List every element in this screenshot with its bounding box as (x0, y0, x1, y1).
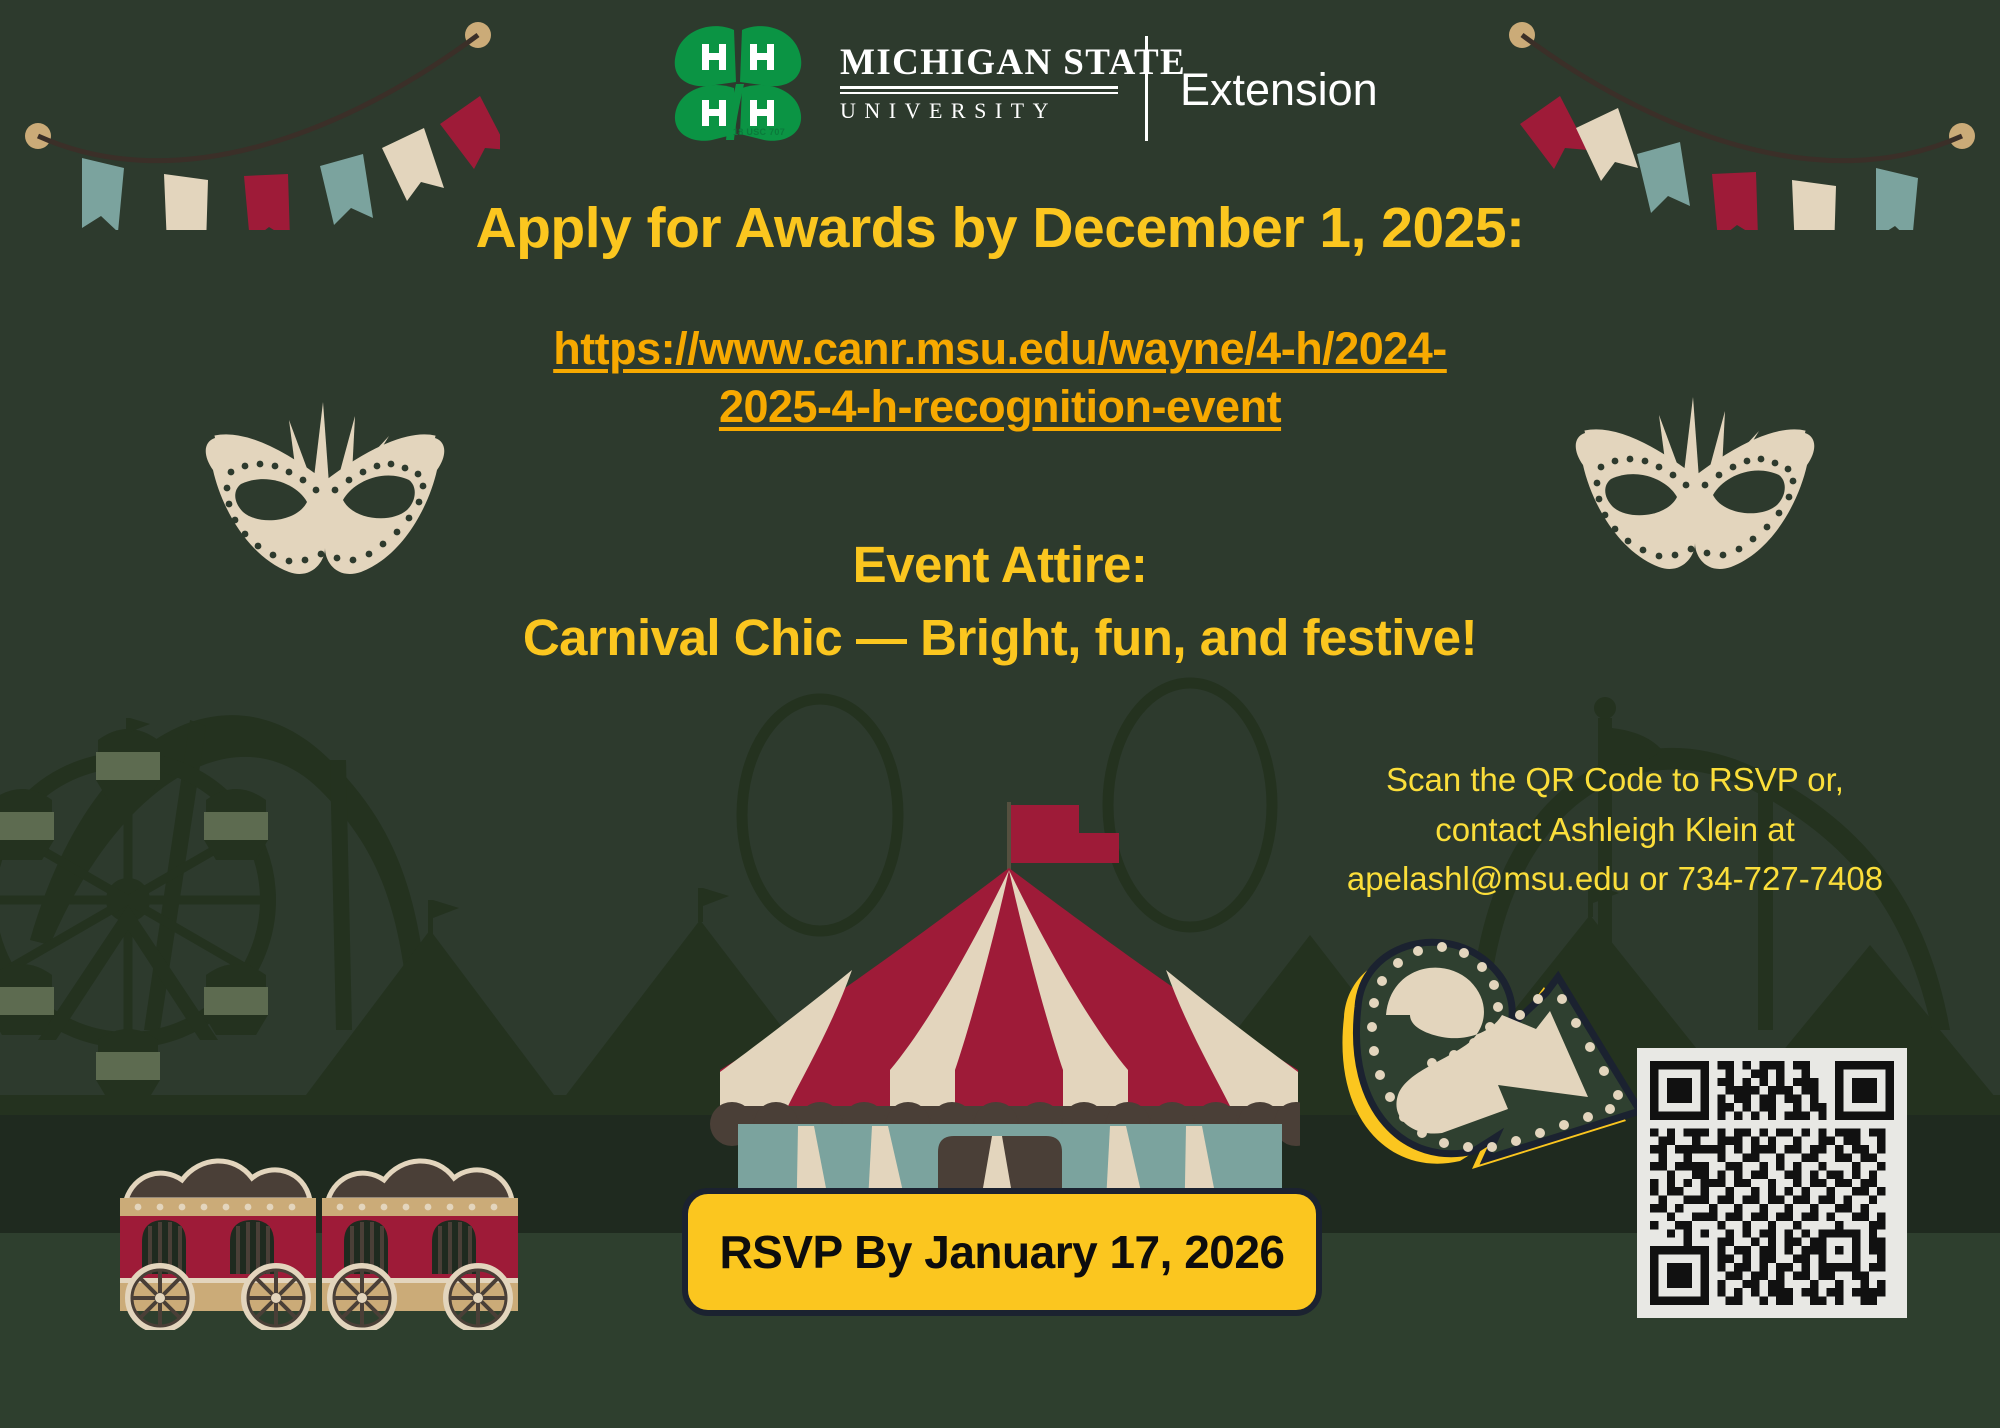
attire-description: Carnival Chic — Bright, fun, and festive… (0, 608, 2000, 667)
tent-flag-icon (1011, 805, 1079, 863)
rsvp-deadline-label: RSVP By January 17, 2026 (719, 1225, 1284, 1279)
wagon-wheel (446, 1266, 510, 1330)
page-title: Apply for Awards by December 1, 2025: (0, 195, 2000, 261)
wagon-wheel (330, 1266, 394, 1330)
usc-notice: 18 USC 707 (733, 127, 785, 137)
logo-divider (1145, 36, 1148, 141)
url-line-2[interactable]: 2025-4-h-recognition-event (719, 381, 1281, 432)
qr-code[interactable] (1637, 1048, 1907, 1318)
circus-tent-illustration (700, 780, 1300, 1240)
registration-url-link[interactable]: https://www.canr.msu.edu/wayne/4-h/2024-… (0, 320, 2000, 435)
msu-rule-thick (840, 86, 1118, 89)
contact-info: Scan the QR Code to RSVP or, contact Ash… (1310, 755, 1920, 904)
contact-line-2: contact Ashleigh Klein at (1310, 805, 1920, 855)
msu-rule-thin (840, 92, 1118, 94)
msu-extension-4h-logo: 18 USC 707 MICHIGAN STATE UNIVERSITY Ext… (660, 22, 1360, 147)
flyer-canvas: 18 USC 707 MICHIGAN STATE UNIVERSITY Ext… (0, 0, 2000, 1428)
msu-line-2: UNIVERSITY (840, 100, 1186, 122)
rsvp-deadline-button[interactable]: RSVP By January 17, 2026 (682, 1188, 1322, 1316)
wagon-wheel (244, 1266, 308, 1330)
contact-line-3: apelashl@msu.edu or 734-727-7408 (1310, 854, 1920, 904)
msu-line-1: MICHIGAN STATE (840, 44, 1186, 81)
circus-wagon (310, 1130, 600, 1330)
extension-wordmark: Extension (1180, 64, 1378, 116)
url-line-1[interactable]: https://www.canr.msu.edu/wayne/4-h/2024- (553, 323, 1447, 374)
wagon-wheel (128, 1266, 192, 1330)
attire-label: Event Attire: (0, 535, 2000, 594)
contact-line-1: Scan the QR Code to RSVP or, (1310, 755, 1920, 805)
msu-wordmark: MICHIGAN STATE UNIVERSITY (840, 44, 1186, 122)
